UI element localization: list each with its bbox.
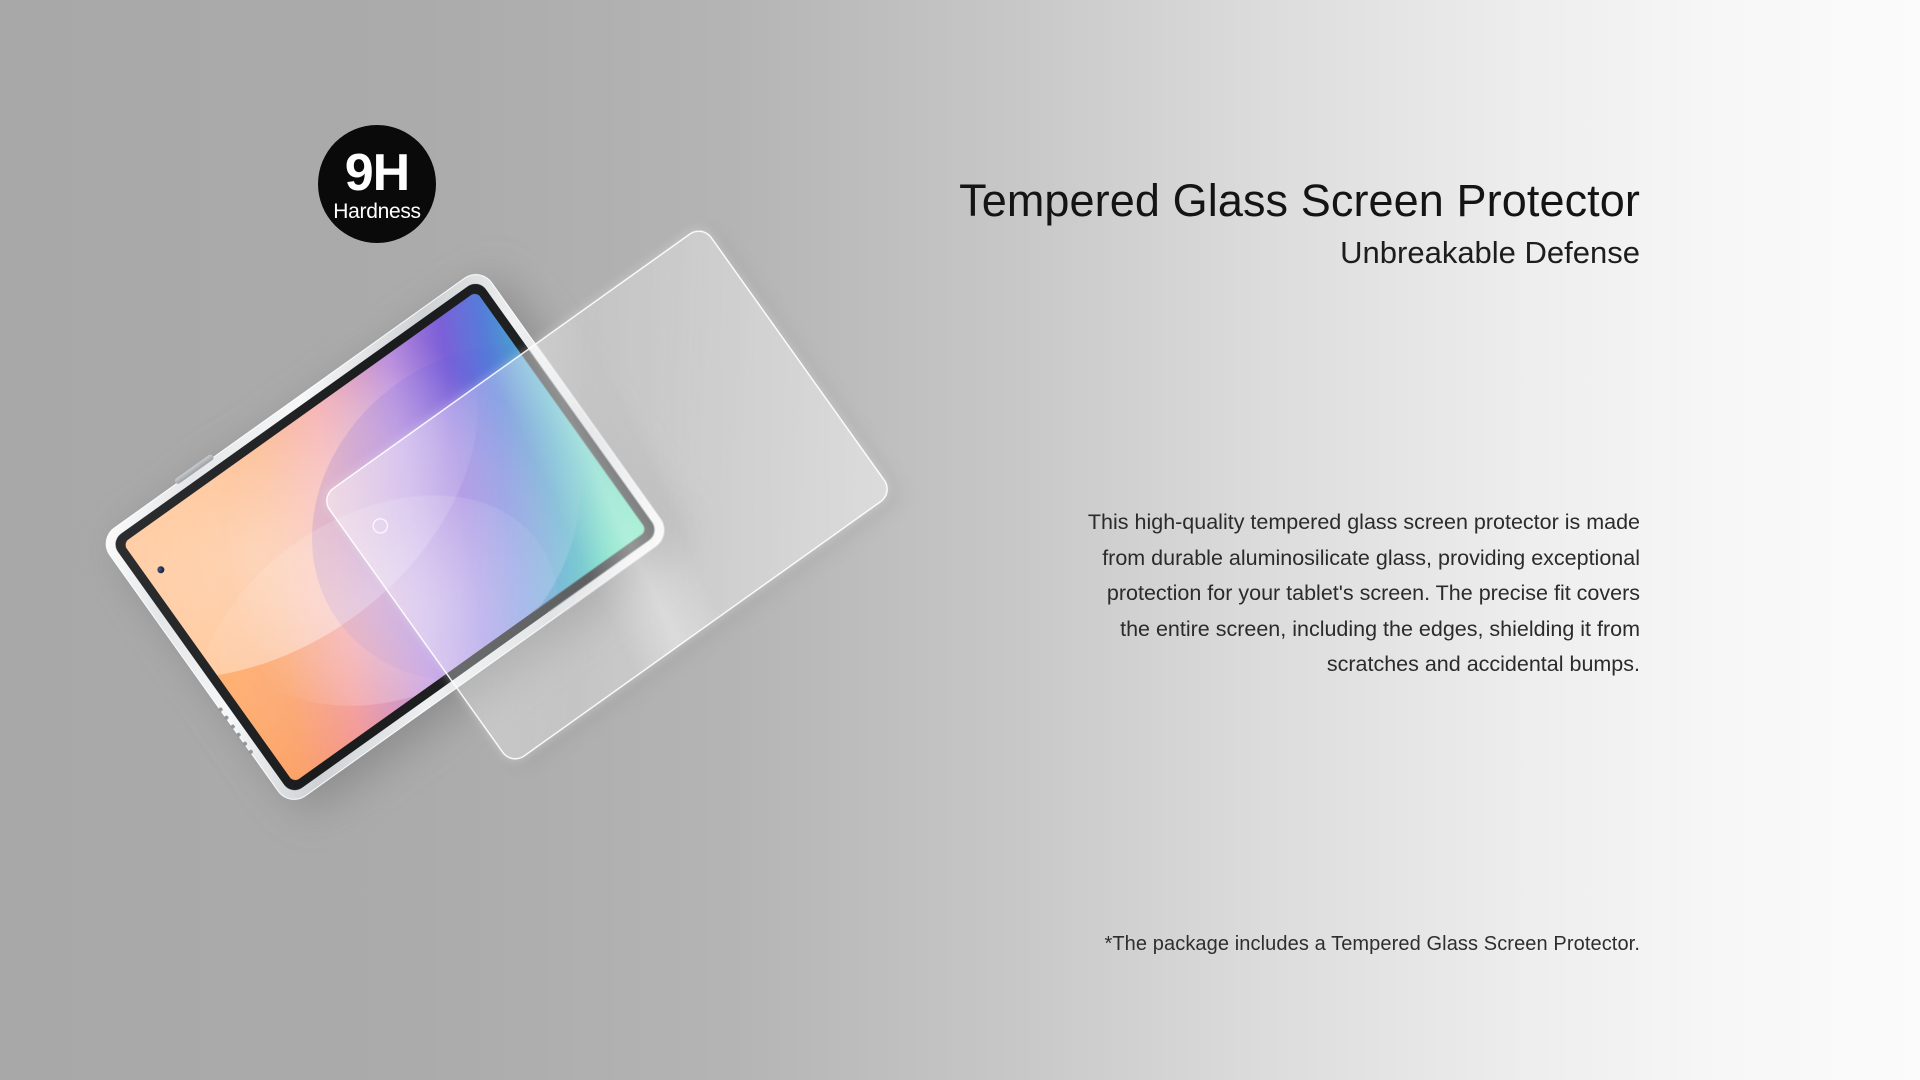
description-line: the entire screen, including the edges, … (1000, 612, 1640, 648)
description-line: scratches and accidental bumps. (1000, 647, 1640, 683)
description-line: from durable aluminosilicate glass, prov… (1000, 541, 1640, 577)
product-description: This high-quality tempered glass screen … (1000, 505, 1640, 683)
package-contents-footnote: *The package includes a Tempered Glass S… (740, 933, 1640, 956)
description-line: protection for your tablet's screen. The… (1000, 576, 1640, 612)
description-line: This high-quality tempered glass screen … (1000, 505, 1640, 541)
page-title: Tempered Glass Screen Protector (810, 176, 1640, 226)
promo-banner: 9H Hardness (0, 0, 1920, 1080)
page-subtitle: Unbreakable Defense (810, 235, 1640, 271)
heading-block: Tempered Glass Screen Protector Unbreaka… (810, 176, 1640, 271)
product-illustration (0, 0, 960, 1080)
